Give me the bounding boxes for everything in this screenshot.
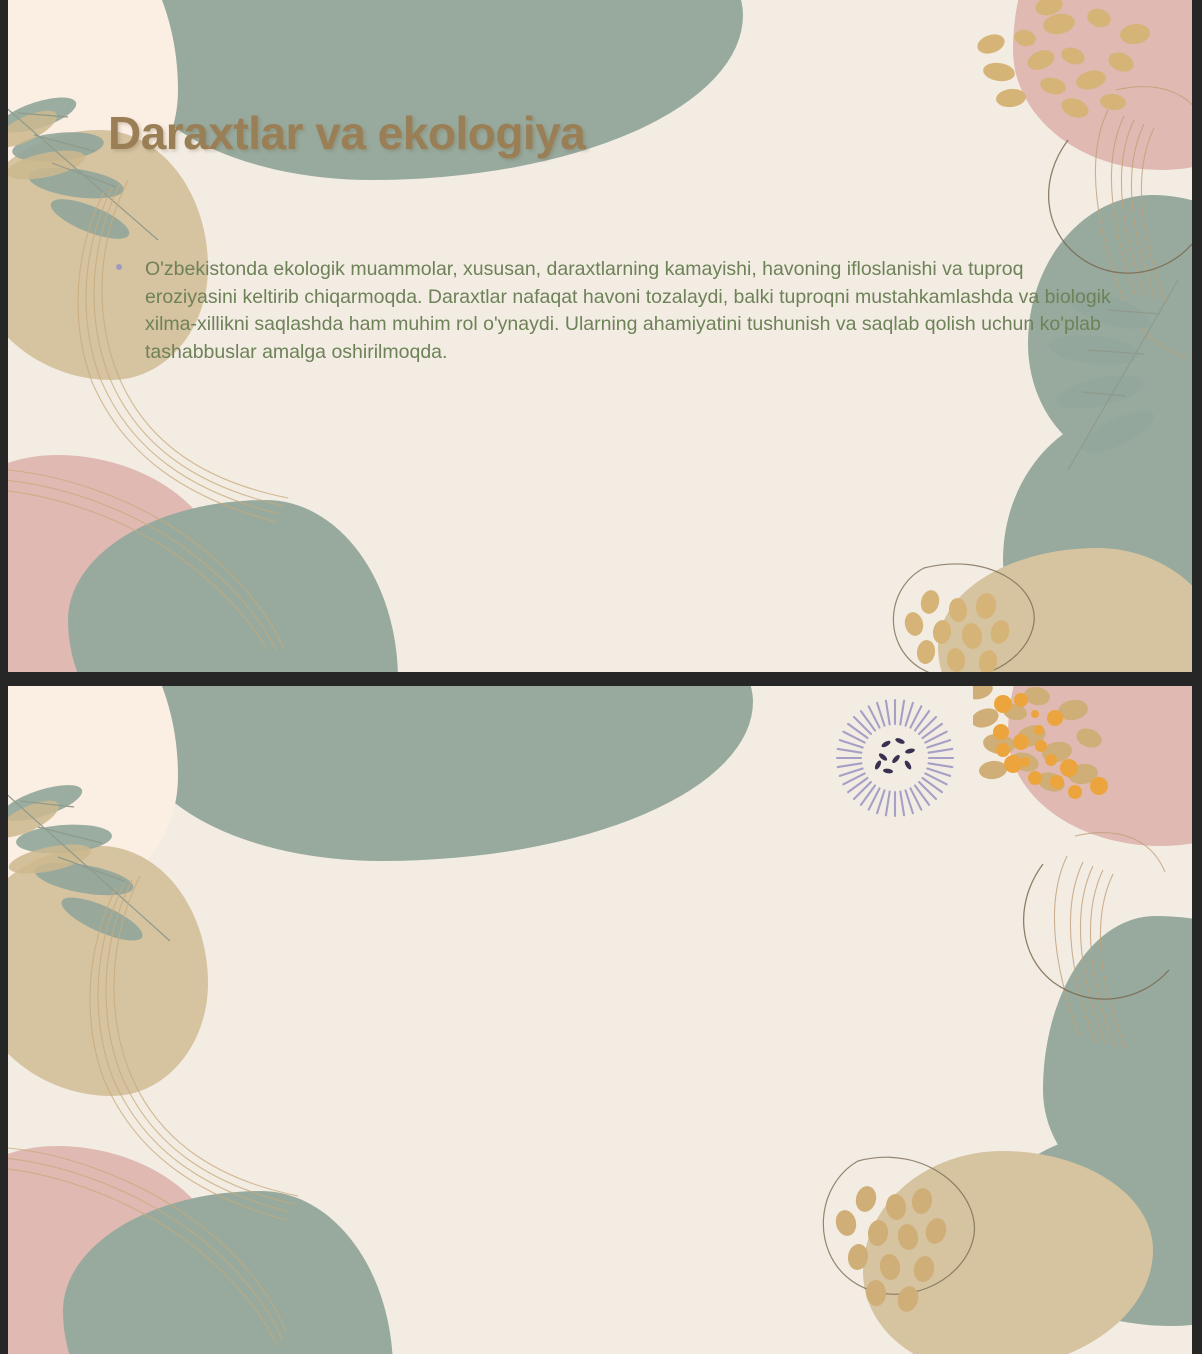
- leaf-sprig-icon-2: [8, 781, 228, 961]
- slide-1[interactable]: Daraxtlar va ekologiya O'zbekistonda eko…: [8, 0, 1192, 672]
- gold-seed-cluster-bottom-right: [868, 540, 1068, 672]
- slide-1-title: Daraxtlar va ekologiya: [108, 108, 585, 159]
- gold-seed-cluster-top-right: [963, 0, 1192, 130]
- tan-blob-bottom-right-2: [863, 1151, 1153, 1354]
- pink-blob-top-right: [1013, 0, 1192, 170]
- cream-blob-top-left: [8, 0, 178, 210]
- sage-blob-right-2: [1043, 916, 1192, 1206]
- sage-blob-top-2: [133, 686, 753, 861]
- cream-blob-top-left-2: [8, 686, 178, 896]
- sage-blob-bottom-left-2: [63, 1191, 393, 1354]
- pink-blob-top-right-2: [1008, 686, 1192, 846]
- gold-seed-dot-cluster-icon: [973, 686, 1192, 836]
- gold-seed-cluster-bottom-right-2: [798, 1141, 1008, 1354]
- sage-blob-bottom-left: [68, 500, 398, 672]
- pink-blob-bottom-left: [8, 455, 228, 672]
- sage-blob-bottom-right-2: [993, 1126, 1192, 1326]
- gold-contour-lines-left-2: [8, 876, 348, 1346]
- pink-blob-bottom-left-2: [8, 1146, 228, 1354]
- tan-blob-left-2: [8, 846, 208, 1096]
- radial-starburst-icon: [820, 691, 970, 826]
- tan-blob-bottom-right: [938, 548, 1192, 672]
- slide-2[interactable]: Daraxtlarni asrab qolish tashabbuslari O…: [8, 686, 1192, 1354]
- gold-contour-lines-left: [8, 180, 348, 650]
- sage-blob-bottom-right: [1003, 410, 1192, 660]
- slide-1-body: O'zbekistonda ekologik muammolar, xususa…: [145, 256, 1113, 367]
- bullet-dot-icon: [116, 264, 122, 270]
- gold-contour-lines-right-2: [1023, 746, 1192, 1076]
- slide-deck: Daraxtlar va ekologiya O'zbekistonda eko…: [0, 0, 1202, 1354]
